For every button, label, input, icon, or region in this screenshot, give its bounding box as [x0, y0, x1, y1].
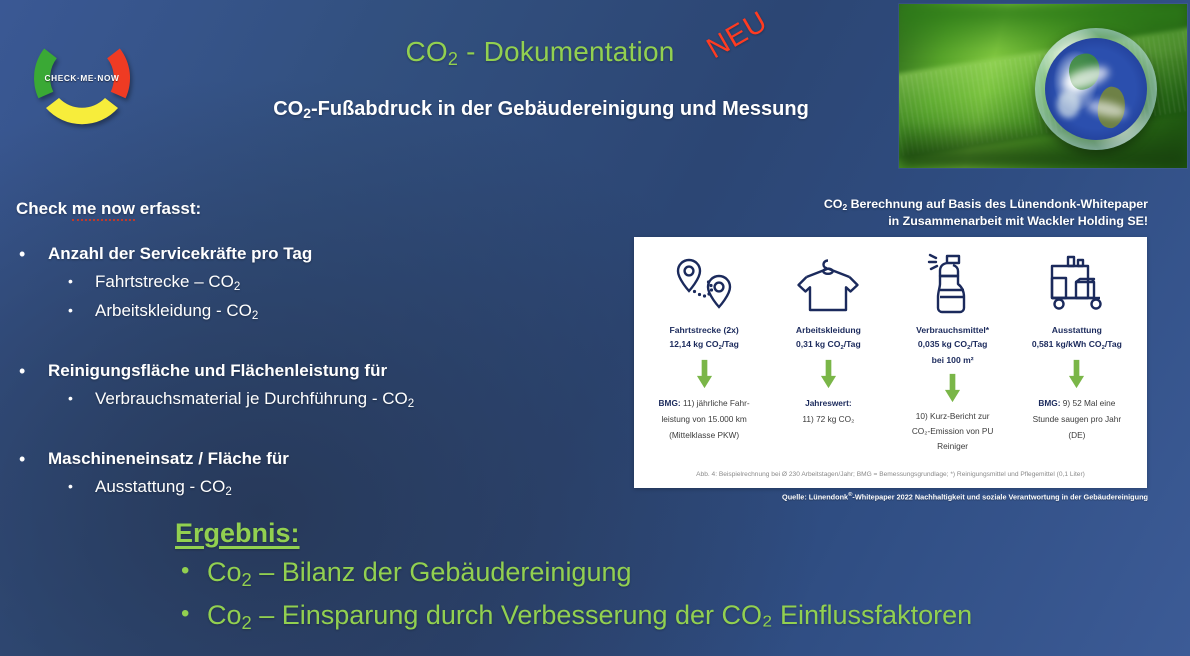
infographic-caption: CO2 Berechnung auf Basis des Lünendonk-W… [786, 196, 1148, 229]
bullet-dot: • [19, 359, 25, 383]
column-note: BMG: 9) 52 Mal eine Stunde saugen pro Ja… [1017, 395, 1137, 443]
sub-item-pre: Arbeitskleidung - CO [95, 301, 252, 320]
feature-group-heading: Reinigungsfläche und Flächenleistung für [48, 361, 387, 380]
value-post: /Tag [844, 339, 861, 349]
page-subtitle: CO2-Fußabdruck in der Gebäudereinigung u… [236, 98, 846, 121]
list-spacer [14, 332, 574, 353]
bullet-dot: • [19, 242, 25, 266]
value-subscript: 2 [719, 345, 722, 351]
list-item: • Co2 – Einsparung durch Verbesserung de… [175, 596, 972, 637]
earth-water-drop-photo [899, 4, 1187, 168]
spray-bottle-icon [893, 246, 1013, 314]
column-label-line2: 0,31 kg CO2/Tag [768, 337, 888, 353]
caption-line2: in Zusammenarbeit mit Wackler Holding SE… [888, 214, 1148, 228]
caption-line1-pre: CO [824, 197, 843, 211]
feature-sublist: • Verbrauchsmaterial je Durchführung - C… [48, 386, 574, 414]
value-pre: 0,581 kg/kWh CO [1032, 339, 1102, 349]
infographic-column-arbeitskleidung: Arbeitskleidung 0,31 kg CO2/Tag Jahreswe… [766, 246, 890, 454]
subtitle-prefix: CO [273, 98, 303, 120]
down-arrow-icon [644, 353, 764, 395]
lead-before: Check [16, 199, 72, 218]
infographic-panel: Fahrtstrecke (2x) 12,14 kg CO2/Tag BMG: … [634, 237, 1147, 488]
result-item-subscript: 2 [242, 569, 252, 590]
sub-item-text: Arbeitskleidung - CO2 [95, 301, 258, 320]
infographic-column-fahrtstrecke: Fahrtstrecke (2x) 12,14 kg CO2/Tag BMG: … [642, 246, 766, 454]
result-item-subscript: 2 [242, 612, 252, 633]
photo-blur-top [899, 4, 1187, 53]
column-label-line1: Verbrauchsmittel* [893, 323, 1013, 337]
value-pre: 12,14 kg CO [669, 339, 718, 349]
bullet-dot: • [181, 595, 189, 633]
list-item: • Verbrauchsmaterial je Durchführung - C… [48, 386, 574, 414]
note-line: (Mittelklasse PKW) [644, 427, 764, 443]
column-label: Arbeitskleidung 0,31 kg CO2/Tag [768, 323, 888, 353]
result-item-post: – Einsparung durch Verbesserung der CO₂ … [252, 600, 972, 630]
column-label-line1: Fahrtstrecke (2x) [644, 323, 764, 337]
map-pins-route-icon [644, 246, 764, 314]
value-subscript: 2 [840, 345, 843, 351]
infographic-footnote: Abb. 4: Beispielrechnung bei Ø 230 Arbei… [634, 470, 1147, 480]
note-label: BMG: [1038, 398, 1060, 408]
water-drop-globe [1035, 28, 1157, 150]
list-item: • Fahrtstrecke – CO2 [48, 269, 574, 297]
column-note: 10) Kurz-Bericht zur CO₂-Emission von PU… [893, 409, 1013, 454]
infographic-columns: Fahrtstrecke (2x) 12,14 kg CO2/Tag BMG: … [642, 246, 1139, 454]
result-list: • Co2 – Bilanz der Gebäudereinigung • Co… [175, 553, 972, 637]
feature-sublist: • Ausstattung - CO2 [48, 474, 574, 502]
list-item: • Co2 – Bilanz der Gebäudereinigung [175, 553, 972, 594]
bullet-dot: • [68, 269, 73, 294]
tshirt-hanger-icon [768, 246, 888, 314]
sub-item-subscript: 2 [225, 486, 231, 498]
source-pre: Quelle: Lünendonk [782, 492, 848, 501]
note-line: BMG: 11) jährliche Fahr- [644, 395, 764, 411]
value-post: /Tag [970, 339, 987, 349]
note-line: (DE) [1017, 427, 1137, 443]
globe-ocean [1045, 38, 1147, 140]
globe-ice [1057, 91, 1080, 118]
column-label: Verbrauchsmittel* 0,035 kg CO2/Tag bei 1… [893, 323, 1013, 367]
note-text: 11) jährliche Fahr- [681, 398, 750, 408]
sub-item-text: Verbrauchsmaterial je Durchführung - CO2 [95, 389, 414, 408]
result-item-post: – Bilanz der Gebäudereinigung [252, 557, 632, 587]
subtitle-suffix: -Fußabdruck in der Gebäudereinigung und … [311, 98, 809, 120]
feature-list: • Anzahl der Servicekräfte pro Tag • Fah… [14, 242, 574, 508]
column-label-line3: bei 100 m² [893, 353, 1013, 367]
note-line: BMG: 9) 52 Mal eine [1017, 395, 1137, 411]
result-item-pre: Co [207, 600, 242, 630]
sub-item-text: Ausstattung - CO2 [95, 477, 232, 496]
sub-item-subscript: 2 [234, 281, 240, 293]
title-suffix: - Dokumentation [458, 36, 674, 67]
note-text: 9) 52 Mal eine [1060, 398, 1115, 408]
result-item-text: Co2 – Einsparung durch Verbesserung der … [207, 600, 972, 630]
column-label: Fahrtstrecke (2x) 12,14 kg CO2/Tag [644, 323, 764, 353]
lead-spellcheck-text: me now [72, 199, 135, 221]
column-label-line2: 12,14 kg CO2/Tag [644, 337, 764, 353]
note-line: CO₂-Emission von PU [893, 424, 1013, 439]
caption-line1-subscript: 2 [842, 202, 847, 212]
list-item: • Arbeitskleidung - CO2 [48, 298, 574, 326]
feature-group: • Maschineneinsatz / Fläche für • Aussta… [14, 447, 574, 502]
feature-group-heading: Maschineneinsatz / Fläche für [48, 449, 289, 468]
photo-blur-bottom [899, 122, 1187, 168]
left-lead-line: Check me now erfasst: [16, 199, 201, 219]
column-label-line2: 0,581 kg/kWh CO2/Tag [1017, 337, 1137, 353]
note-label: BMG: [659, 398, 681, 408]
note-line: 11) 72 kg CO₂ [768, 411, 888, 427]
value-subscript: 2 [967, 345, 970, 351]
value-pre: 0,31 kg CO [796, 339, 840, 349]
sub-item-pre: Ausstattung - CO [95, 477, 225, 496]
lead-after: erfasst: [135, 199, 201, 218]
value-post: /Tag [722, 339, 739, 349]
logo-wordmark: CHECK·ME·NOW [26, 73, 138, 83]
feature-group-heading: Anzahl der Servicekräfte pro Tag [48, 244, 312, 263]
note-line: Reiniger [893, 439, 1013, 454]
cleaning-trolley-icon [1017, 246, 1137, 314]
bullet-dot: • [181, 552, 189, 590]
column-note: BMG: 11) jährliche Fahr- leistung von 15… [644, 395, 764, 443]
value-subscript: 2 [1102, 345, 1105, 351]
down-arrow-icon [768, 353, 888, 395]
result-item-text: Co2 – Bilanz der Gebäudereinigung [207, 557, 632, 587]
caption-line1-post: Berechnung auf Basis des Lünendonk-White… [847, 197, 1148, 211]
result-section: Ergebnis: • Co2 – Bilanz der Gebäuderein… [175, 518, 972, 639]
note-line: Stunde saugen pro Jahr [1017, 411, 1137, 427]
down-arrow-icon [1017, 353, 1137, 395]
feature-sublist: • Fahrtstrecke – CO2 • Arbeitskleidung -… [48, 269, 574, 326]
bullet-dot: • [68, 386, 73, 411]
source-attribution: Quelle: Lünendonk®-Whitepaper 2022 Nachh… [600, 492, 1148, 501]
value-pre: 0,035 kg CO [918, 339, 967, 349]
infographic-column-ausstattung: Ausstattung 0,581 kg/kWh CO2/Tag BMG: 9)… [1015, 246, 1139, 454]
down-arrow-icon [893, 367, 1013, 409]
note-line: Jahreswert: [768, 395, 888, 411]
list-spacer [14, 420, 574, 441]
subtitle-subscript: 2 [303, 105, 311, 121]
sub-item-text: Fahrtstrecke – CO2 [95, 272, 240, 291]
sub-item-pre: Verbrauchsmaterial je Durchführung - CO [95, 389, 408, 408]
bullet-dot: • [68, 298, 73, 323]
title-prefix: CO [405, 36, 447, 67]
note-label: Jahreswert: [805, 398, 852, 408]
slide-canvas: CHECK·ME·NOW CO2 - Dokumentation CO2-Fuß… [0, 0, 1190, 656]
source-post: -Whitepaper 2022 Nachhaltigkeit und sozi… [852, 492, 1148, 501]
feature-group: • Anzahl der Servicekräfte pro Tag • Fah… [14, 242, 574, 326]
value-post: /Tag [1105, 339, 1122, 349]
infographic-column-verbrauchsmittel: Verbrauchsmittel* 0,035 kg CO2/Tag bei 1… [891, 246, 1015, 454]
column-label-line1: Arbeitskleidung [768, 323, 888, 337]
sub-item-subscript: 2 [252, 310, 258, 322]
column-label-line1: Ausstattung [1017, 323, 1137, 337]
column-label-line2: 0,035 kg CO2/Tag [893, 337, 1013, 353]
feature-group: • Reinigungsfläche und Flächenleistung f… [14, 359, 574, 414]
title-subscript: 2 [448, 49, 458, 69]
list-item: • Ausstattung - CO2 [48, 474, 574, 502]
column-note: Jahreswert: 11) 72 kg CO₂ [768, 395, 888, 427]
sub-item-subscript: 2 [408, 398, 414, 410]
column-label: Ausstattung 0,581 kg/kWh CO2/Tag [1017, 323, 1137, 353]
check-me-now-logo: CHECK·ME·NOW [26, 22, 138, 134]
note-line: leistung von 15.000 km [644, 411, 764, 427]
bullet-dot: • [68, 474, 73, 499]
note-line: 10) Kurz-Bericht zur [893, 409, 1013, 424]
bullet-dot: • [19, 447, 25, 471]
result-heading: Ergebnis: [175, 518, 972, 549]
sub-item-pre: Fahrtstrecke – CO [95, 272, 234, 291]
result-item-pre: Co [207, 557, 242, 587]
